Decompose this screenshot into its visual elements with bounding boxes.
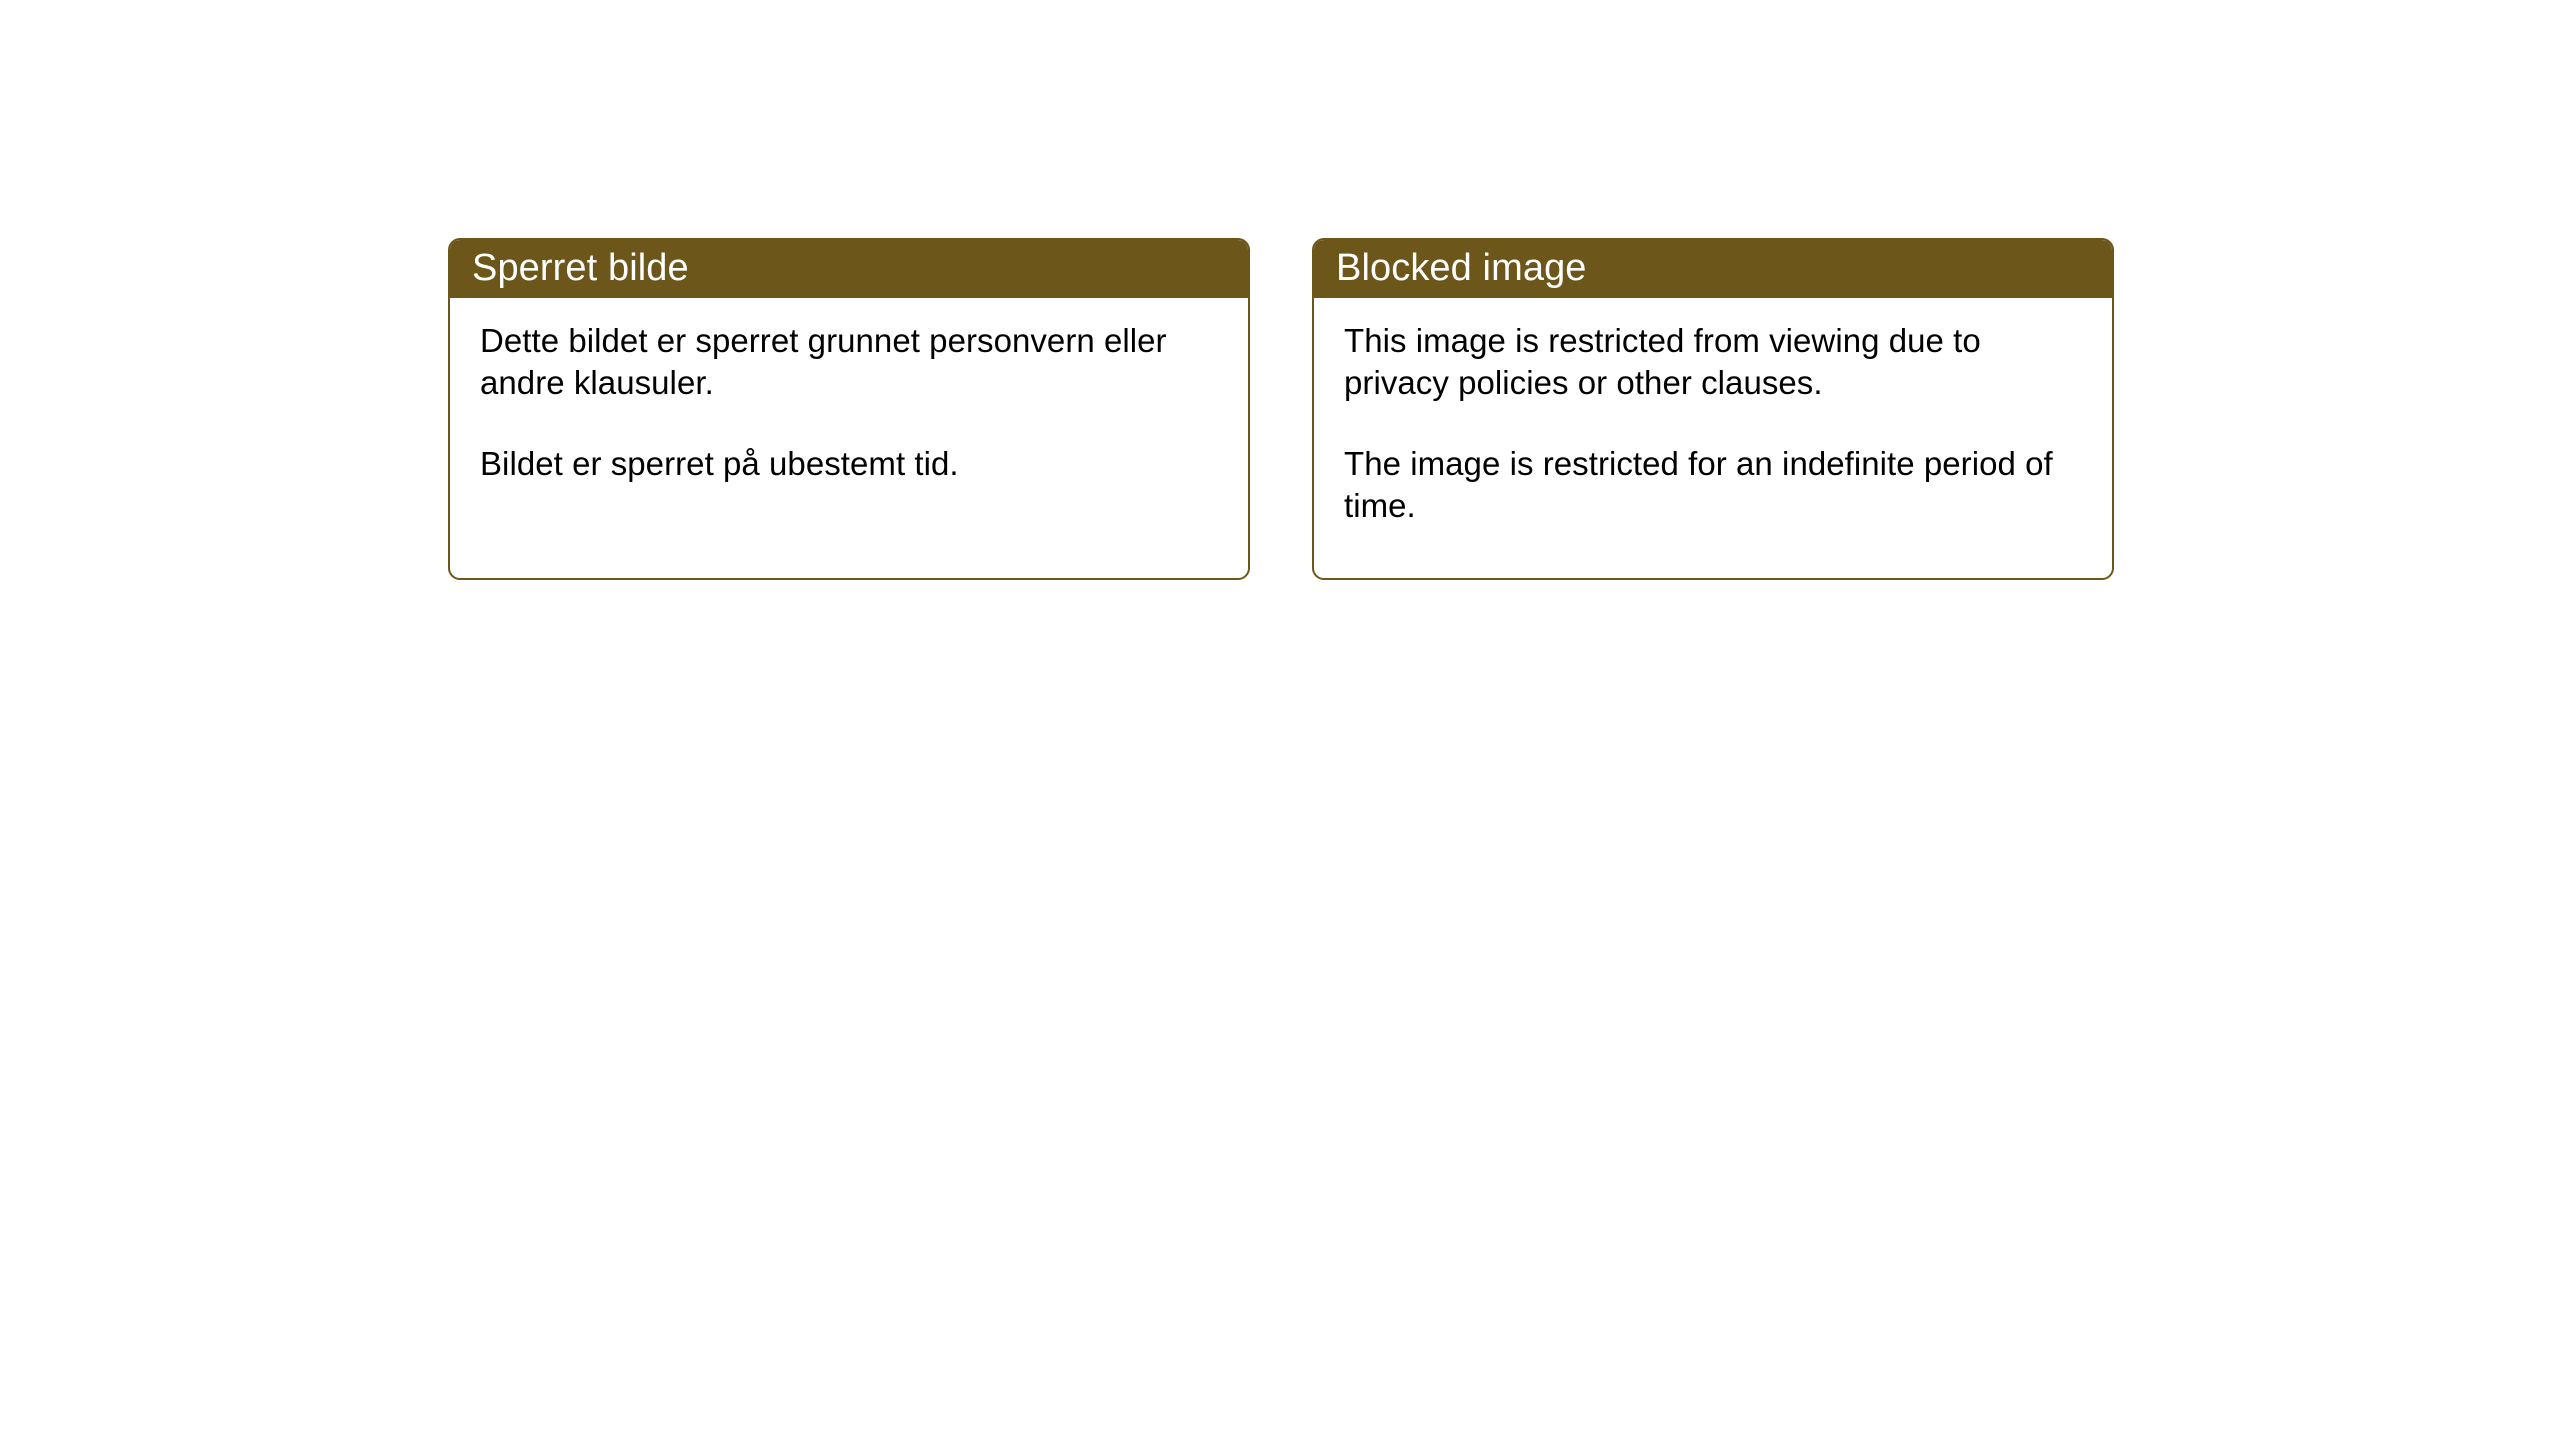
card-body-norwegian: Dette bildet er sperret grunnet personve… xyxy=(450,298,1248,485)
page-root: Sperret bilde Dette bildet er sperret gr… xyxy=(0,0,2560,1440)
card-paragraph: The image is restricted for an indefinit… xyxy=(1344,443,2082,526)
card-paragraph: Bildet er sperret på ubestemt tid. xyxy=(480,443,1218,485)
card-title-norwegian: Sperret bilde xyxy=(472,249,689,287)
card-header-english: Blocked image xyxy=(1312,238,2114,298)
card-header-norwegian: Sperret bilde xyxy=(448,238,1250,298)
blocked-image-notice-card-english: Blocked image This image is restricted f… xyxy=(1312,238,2114,580)
card-body-english: This image is restricted from viewing du… xyxy=(1314,298,2112,526)
card-title-english: Blocked image xyxy=(1336,249,1587,287)
card-paragraph: This image is restricted from viewing du… xyxy=(1344,320,2082,403)
blocked-image-notice-card-norwegian: Sperret bilde Dette bildet er sperret gr… xyxy=(448,238,1250,580)
card-paragraph: Dette bildet er sperret grunnet personve… xyxy=(480,320,1218,403)
